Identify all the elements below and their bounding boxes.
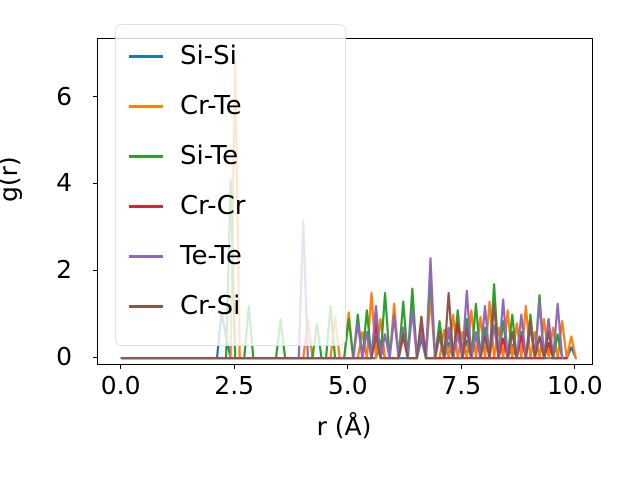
legend-item-te-te: Te-Te xyxy=(116,231,345,281)
x-tick-label: 2.5 xyxy=(214,371,254,401)
x-tick-mark xyxy=(574,365,575,369)
x-axis-label: r (Å) xyxy=(0,412,640,441)
y-tick-label: 4 xyxy=(56,168,72,198)
legend-label: Si-Te xyxy=(180,143,238,169)
legend-item-si-te: Si-Te xyxy=(116,131,345,181)
figure-canvas: 0.02.55.07.510.0 0246 r (Å) g(r) Si-SiCr… xyxy=(0,0,640,480)
x-axis-label-text: r (Å) xyxy=(317,412,372,441)
x-tick-mark xyxy=(461,365,462,369)
y-tick-mark xyxy=(93,270,97,271)
legend-swatch-icon xyxy=(129,155,163,158)
legend-swatch-icon xyxy=(129,105,163,108)
x-tick-label: 10.0 xyxy=(547,371,603,401)
x-tick-label: 0.0 xyxy=(101,371,141,401)
legend-swatch-icon xyxy=(129,205,163,208)
legend-swatch-icon xyxy=(129,55,163,58)
x-tick-label: 7.5 xyxy=(441,371,481,401)
legend-label: Si-Si xyxy=(180,43,237,69)
legend-item-cr-cr: Cr-Cr xyxy=(116,181,345,231)
y-tick-label: 0 xyxy=(56,342,72,372)
y-tick-mark xyxy=(93,96,97,97)
x-tick-label: 5.0 xyxy=(328,371,368,401)
legend-item-si-si: Si-Si xyxy=(116,31,345,81)
legend-label: Cr-Cr xyxy=(180,193,245,219)
legend-swatch-icon xyxy=(129,305,163,308)
y-tick-mark xyxy=(93,183,97,184)
x-tick-mark xyxy=(234,365,235,369)
y-tick-mark xyxy=(93,357,97,358)
legend: Si-SiCr-TeSi-TeCr-CrTe-TeCr-Si xyxy=(115,24,346,346)
x-tick-mark xyxy=(347,365,348,369)
y-tick-label: 6 xyxy=(56,82,72,112)
legend-swatch-icon xyxy=(129,255,163,258)
legend-label: Cr-Si xyxy=(180,293,240,319)
y-tick-label: 2 xyxy=(56,255,72,285)
x-tick-mark xyxy=(120,365,121,369)
y-axis-label: g(r) xyxy=(0,156,23,202)
legend-item-cr-si: Cr-Si xyxy=(116,281,345,331)
legend-label: Cr-Te xyxy=(180,93,242,119)
legend-item-cr-te: Cr-Te xyxy=(116,81,345,131)
legend-label: Te-Te xyxy=(180,243,242,269)
